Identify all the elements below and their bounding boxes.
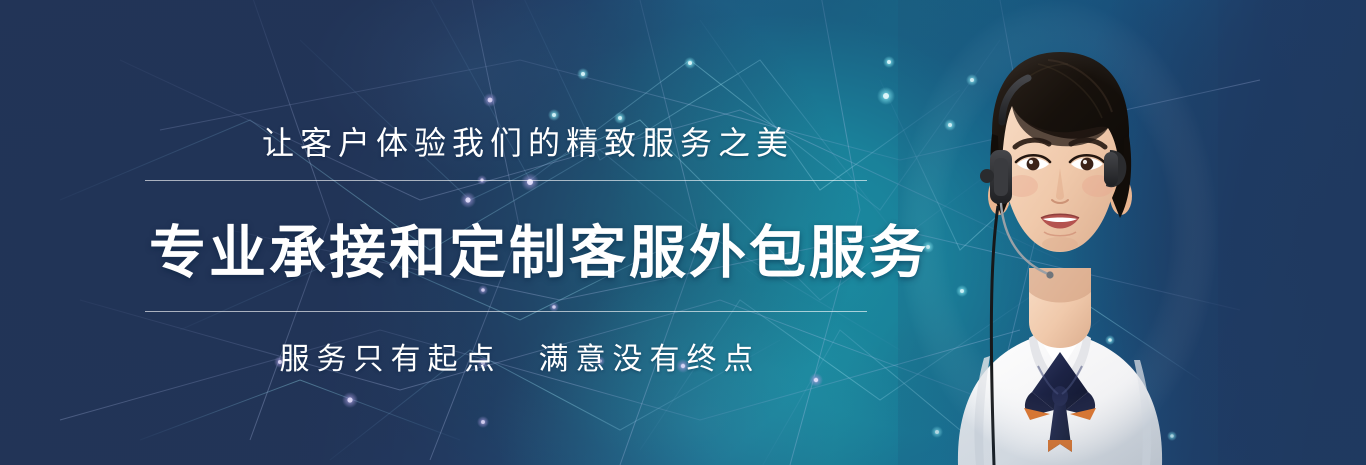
- hero-headline: 专业承接和定制客服外包服务: [145, 181, 867, 311]
- hero-tagline-bottom: 服务只有起点 满意没有终点: [145, 312, 867, 378]
- hero-banner: 让客户体验我们的精致服务之美 专业承接和定制客服外包服务 服务只有起点 满意没有…: [0, 0, 1366, 465]
- hero-tagline-top: 让客户体验我们的精致服务之美: [145, 118, 867, 180]
- customer-service-agent-photo: [898, 0, 1218, 465]
- hero-copy: 让客户体验我们的精致服务之美 专业承接和定制客服外包服务 服务只有起点 满意没有…: [145, 118, 867, 378]
